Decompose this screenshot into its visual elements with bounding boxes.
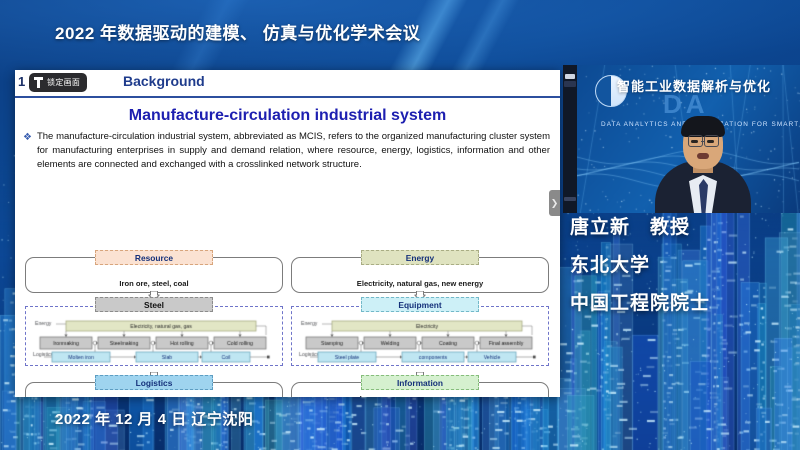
bullet-diamond-icon: ❖ bbox=[23, 130, 32, 173]
speaker-affiliation: 东北大学 bbox=[570, 250, 796, 277]
conference-date-location: 2022 年 12 月 4 日 辽宁沈阳 bbox=[55, 408, 253, 429]
next-slide-button[interactable]: ❯ bbox=[549, 190, 560, 216]
steel-flow-chart bbox=[26, 307, 284, 365]
slide-number: 1 bbox=[18, 74, 25, 89]
diagram-row-bottom: Logistics Port, land transportation, rai… bbox=[25, 375, 550, 397]
resource-sub: Iron ore, steel, coal bbox=[119, 279, 188, 288]
slide-section-label: Background bbox=[123, 73, 205, 89]
steel-group: Steel bbox=[25, 297, 283, 366]
diagram-row-middle: Steel Equipment bbox=[25, 297, 550, 366]
mcis-diagram: Resource Iron ore, steel, coal Energy El… bbox=[25, 250, 550, 397]
pin-icon bbox=[34, 77, 43, 88]
lock-screen-label: 锁定画面 bbox=[47, 77, 80, 88]
slide-panel[interactable]: 1 锁定画面 Background Manufacture-circulatio… bbox=[15, 70, 560, 397]
speaker-info-block: 唐立新 教授 东北大学 中国工程院院士 bbox=[570, 212, 796, 326]
steel-tag: Steel bbox=[95, 297, 213, 312]
resource-tag: Resource bbox=[95, 250, 213, 265]
speaker-eye-right bbox=[707, 140, 714, 143]
slide-body-text: The manufacture-circulation industrial s… bbox=[37, 130, 550, 173]
slide-body: Manufacture-circulation industrial syste… bbox=[15, 107, 560, 397]
equipment-panel bbox=[291, 306, 549, 366]
speaker-portrait bbox=[655, 95, 751, 213]
speaker-glasses-bridge bbox=[701, 141, 705, 142]
speaker-hair bbox=[681, 116, 725, 137]
steel-panel bbox=[25, 306, 283, 366]
mouse-cursor-icon bbox=[360, 396, 371, 397]
speaker-video-panel[interactable]: DA 智能工业数据解析与优化 DATA ANALYTICS AND OPTIMI… bbox=[563, 65, 800, 213]
slide-title: Manufacture-circulation industrial syste… bbox=[15, 107, 560, 125]
energy-tag: Energy bbox=[361, 250, 479, 265]
energy-sub: Electricity, natural gas, new energy bbox=[357, 279, 483, 288]
video-sidebar bbox=[563, 65, 577, 213]
equipment-tag: Equipment bbox=[361, 297, 479, 312]
speaker-name-title: 唐立新 教授 bbox=[570, 212, 796, 239]
conference-title: 2022 年数据驱动的建模、 仿真与优化学术会议 bbox=[55, 19, 420, 44]
information-tag: Information bbox=[361, 375, 479, 390]
video-frame: DA 智能工业数据解析与优化 DATA ANALYTICS AND OPTIMI… bbox=[577, 65, 800, 213]
video-background-title: 智能工业数据解析与优化 bbox=[617, 76, 796, 95]
logistics-tag: Logistics bbox=[95, 375, 213, 390]
video-sidebar-label bbox=[564, 81, 576, 87]
energy-group: Energy Electricity, natural gas, new ene… bbox=[291, 250, 549, 293]
information-group: Information Structural data, images, sou… bbox=[291, 375, 549, 397]
video-sidebar-indicator bbox=[565, 74, 575, 79]
logistics-group: Logistics Port, land transportation, rai… bbox=[25, 375, 283, 397]
lock-screen-button[interactable]: 锁定画面 bbox=[29, 73, 87, 92]
slide-bullet: ❖ The manufacture-circulation industrial… bbox=[15, 130, 560, 173]
equipment-group: Equipment bbox=[291, 297, 549, 366]
speaker-eye-left bbox=[691, 140, 698, 143]
resource-group: Resource Iron ore, steel, coal bbox=[25, 250, 283, 293]
slide-header: 1 锁定画面 Background bbox=[15, 70, 560, 98]
speaker-mouth bbox=[697, 153, 709, 159]
speaker-honor: 中国工程院院士 bbox=[570, 288, 796, 315]
diagram-row-top: Resource Iron ore, steel, coal Energy El… bbox=[25, 250, 550, 293]
equipment-flow-chart bbox=[292, 307, 550, 365]
video-sidebar-footer bbox=[564, 197, 576, 201]
